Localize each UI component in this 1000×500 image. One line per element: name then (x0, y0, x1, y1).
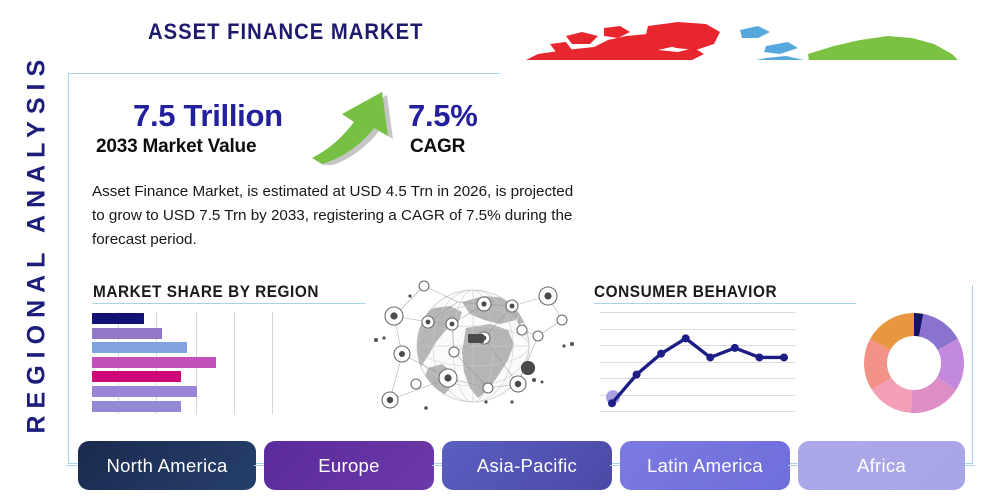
line-marker (706, 353, 714, 361)
region-button-row: North AmericaEuropeAsia-PacificLatin Ame… (78, 441, 965, 490)
line-series (600, 312, 796, 415)
line-path (612, 338, 784, 403)
region-button-africa[interactable]: Africa (798, 441, 965, 490)
region-button-label: Europe (318, 455, 379, 477)
segment-donut-chart (860, 309, 968, 417)
line-marker (633, 371, 641, 379)
bar (92, 342, 187, 353)
region-button-asia-pacific[interactable]: Asia-Pacific (442, 441, 612, 490)
bar (92, 371, 181, 382)
bar (92, 357, 216, 368)
market-share-heading: MARKET SHARE BY REGION (93, 283, 319, 302)
bar-gridline (234, 312, 235, 414)
bar-row (92, 371, 181, 382)
line-marker (780, 353, 788, 361)
consumer-behavior-line-chart (600, 312, 796, 415)
bar-row (92, 328, 162, 339)
bar-row (92, 342, 187, 353)
line-marker (755, 353, 763, 361)
donut-series (860, 309, 968, 417)
consumer-behavior-heading: CONSUMER BEHAVIOR (594, 283, 777, 302)
bar-gridline (272, 312, 273, 414)
region-button-label: Latin America (647, 455, 763, 477)
bar-row (92, 401, 181, 412)
cagr-caption: CAGR (410, 136, 465, 158)
summary-paragraph: Asset Finance Market, is estimated at US… (92, 180, 584, 252)
market-value-figure: 7.5 Trillion (133, 98, 283, 134)
bar (92, 401, 181, 412)
region-button-north-america[interactable]: North America (78, 441, 256, 490)
region-connector-line (66, 465, 78, 466)
line-marker (682, 334, 690, 342)
market-share-bar-chart (92, 312, 288, 414)
line-marker (657, 350, 665, 358)
growth-arrow-icon (308, 80, 400, 165)
region-button-label: Africa (857, 455, 906, 477)
market-value-caption: 2033 Market Value (96, 136, 256, 158)
market-share-underline (93, 303, 365, 304)
bar-row (92, 357, 216, 368)
line-marker (731, 344, 739, 352)
region-button-latin-america[interactable]: Latin America (620, 441, 790, 490)
consumer-behavior-underline (594, 303, 856, 304)
infographic-root: REGIONAL ANALYSIS ASSET FINANCE MARKET (0, 0, 1000, 500)
bar (92, 386, 197, 397)
region-button-label: North America (106, 455, 227, 477)
line-marker (608, 399, 616, 407)
vertical-section-label: REGIONAL ANALYSIS (23, 64, 52, 434)
page-title: ASSET FINANCE MARKET (148, 19, 423, 45)
bar-row (92, 386, 197, 397)
region-connector-line (965, 465, 975, 466)
cagr-figure: 7.5% (408, 98, 477, 134)
region-button-label: Asia-Pacific (477, 455, 577, 477)
bar (92, 328, 162, 339)
bar (92, 313, 144, 324)
global-network-globe-icon (366, 272, 580, 424)
bar-row (92, 313, 144, 324)
region-button-europe[interactable]: Europe (264, 441, 434, 490)
